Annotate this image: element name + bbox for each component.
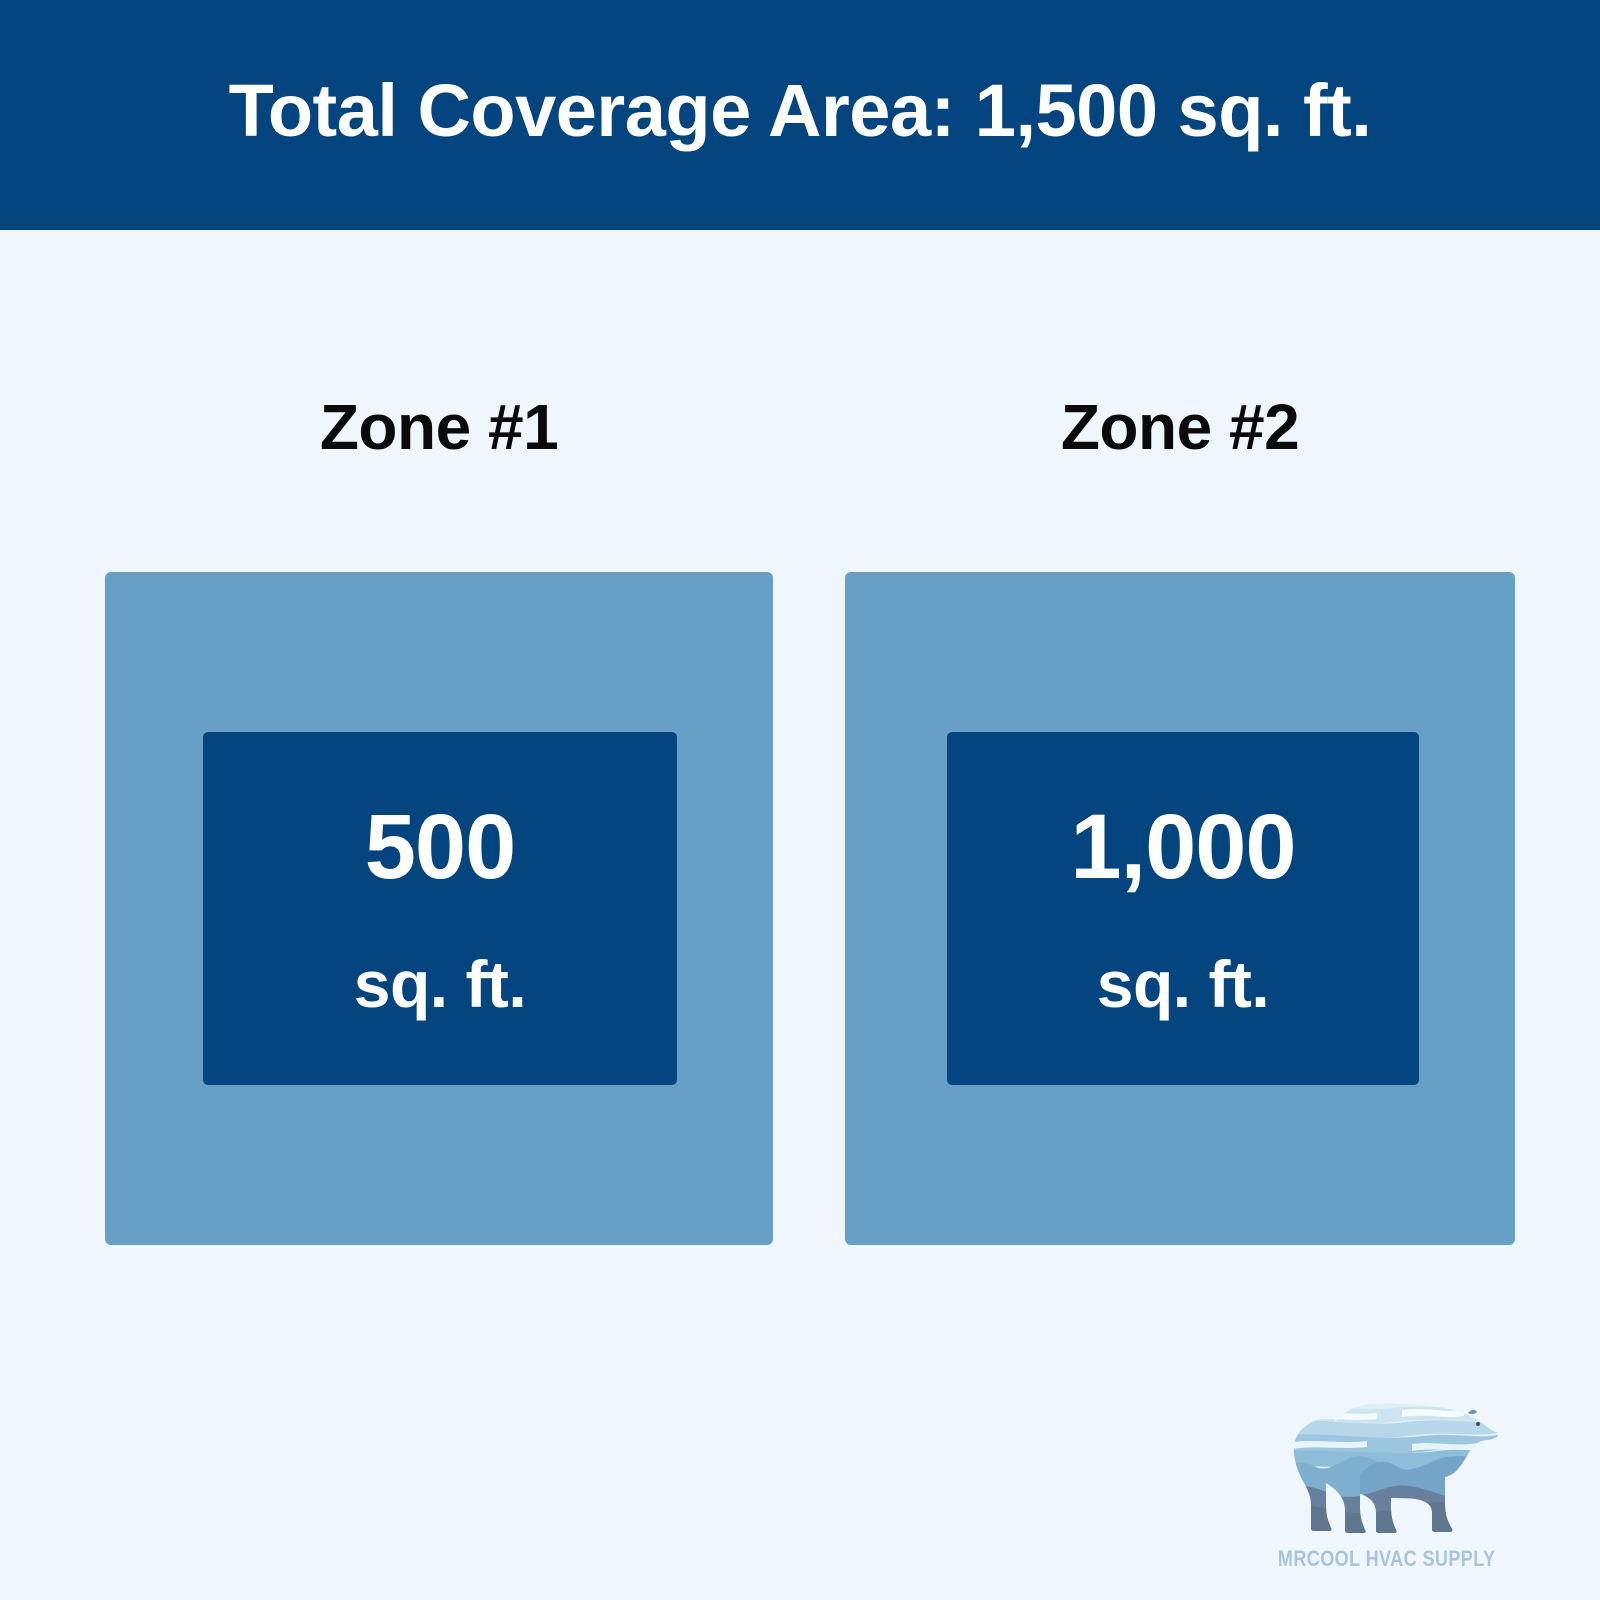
brand-name: MRCOOL HVAC SUPPLY — [1278, 1546, 1496, 1572]
zone-label-2: Zone #2 — [845, 395, 1515, 459]
zone-value-number-2: 1,000 — [1070, 801, 1295, 893]
zone-value-unit-2: sq. ft. — [1097, 951, 1270, 1017]
zone-value-unit-1: sq. ft. — [354, 951, 527, 1017]
header-band: Total Coverage Area: 1,500 sq. ft. — [0, 0, 1600, 230]
zone-label-1: Zone #1 — [105, 395, 773, 459]
zone-coverage-area-2: 1,000 sq. ft. — [845, 572, 1515, 1245]
zone-coverage-area-1: 500 sq. ft. — [105, 572, 773, 1245]
bear-landscape-fill — [1272, 1400, 1502, 1542]
page-title: Total Coverage Area: 1,500 sq. ft. — [229, 72, 1372, 150]
bear-eye-icon — [1476, 1422, 1480, 1426]
bear-ear-icon — [1468, 1410, 1477, 1414]
zone-value-number-1: 500 — [365, 801, 516, 893]
zone-value-box-2: 1,000 sq. ft. — [947, 732, 1419, 1085]
zones-container: Zone #1 500 sq. ft. Zone #2 1,000 sq. ft… — [0, 230, 1600, 1600]
brand-logo: MRCOOL HVAC SUPPLY — [1252, 1400, 1522, 1572]
zone-value-box-1: 500 sq. ft. — [203, 732, 677, 1085]
polar-bear-icon — [1272, 1400, 1502, 1542]
